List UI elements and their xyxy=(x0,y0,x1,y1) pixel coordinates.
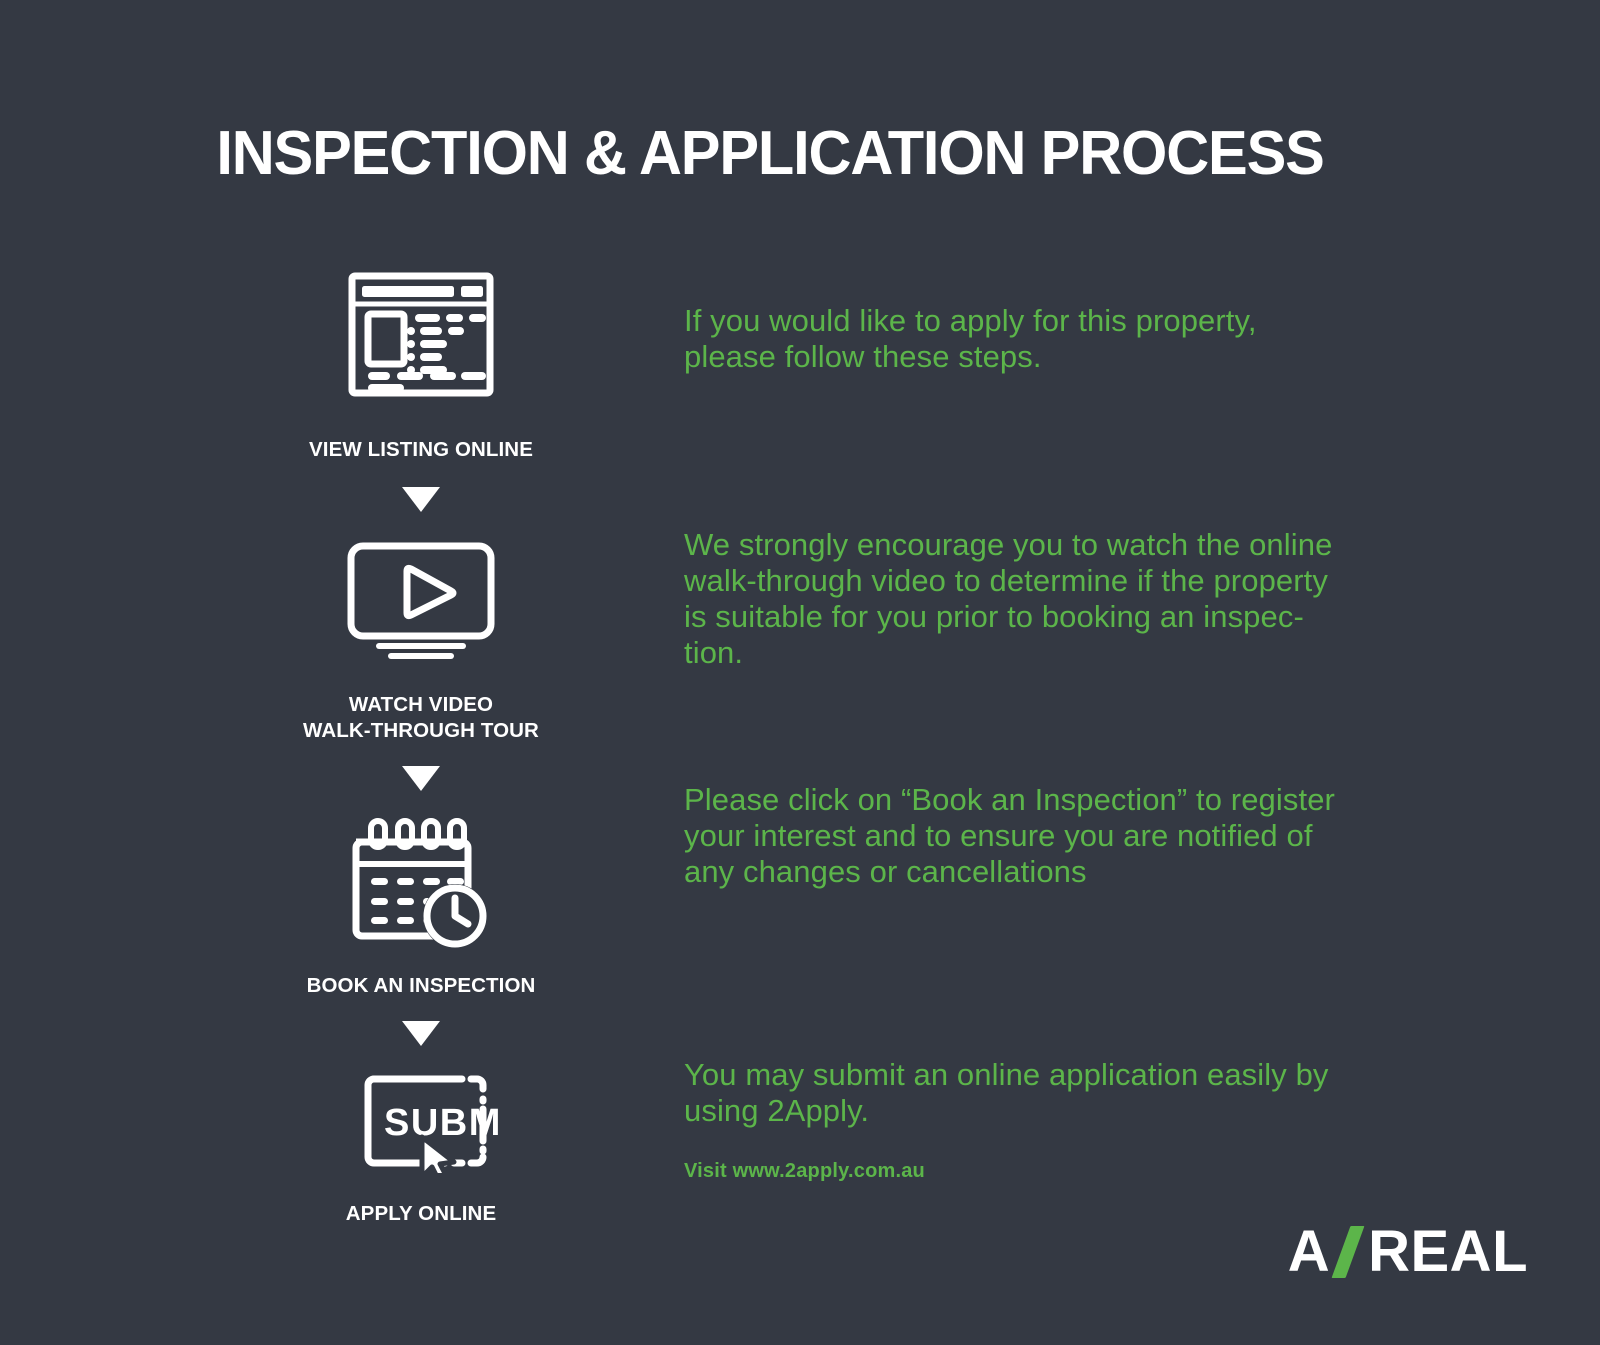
step-label: APPLY ONLINE xyxy=(255,1201,587,1227)
copy-line: We strongly encourage you to watch the o… xyxy=(684,527,1414,563)
copy-line: your interest and to ensure you are noti… xyxy=(684,818,1414,854)
visit-2apply-link[interactable]: Visit www.2apply.com.au xyxy=(684,1160,925,1183)
copy-block-2: We strongly encourage you to watch the o… xyxy=(684,527,1414,671)
copy-line: You may submit an online application eas… xyxy=(684,1057,1414,1093)
infographic-page: INSPECTION & APPLICATION PROCESS xyxy=(0,0,1600,1345)
logo-word-real: REAL xyxy=(1368,1218,1528,1285)
browser-listing-icon xyxy=(255,262,587,397)
copy-line: tion. xyxy=(684,635,1414,671)
step-apply-online: SUBMIT APPLY ONLINE xyxy=(255,1068,587,1227)
step-label-line: WATCH VIDEO xyxy=(255,692,587,718)
step-label: WATCH VIDEO WALK-THROUGH TOUR xyxy=(255,692,587,744)
step-watch-video: WATCH VIDEO WALK-THROUGH TOUR xyxy=(255,538,587,791)
copy-line: please follow these steps. xyxy=(684,339,1414,375)
down-arrow-icon xyxy=(255,487,587,512)
copy-block-1: If you would like to apply for this prop… xyxy=(684,303,1414,375)
copy-line: using 2Apply. xyxy=(684,1093,1414,1129)
calendar-clock-icon xyxy=(255,811,587,951)
step-label: VIEW LISTING ONLINE xyxy=(255,437,587,463)
process-steps-column: VIEW LISTING ONLINE WATCH VIDEO WALK-THR… xyxy=(255,262,587,1227)
step-label-line: WALK-THROUGH TOUR xyxy=(255,718,587,744)
copy-line: Please click on “Book an Inspection” to … xyxy=(684,782,1414,818)
logo-slash-icon xyxy=(1332,1226,1365,1278)
video-play-monitor-icon xyxy=(255,538,587,660)
areal-logo: A REAL xyxy=(1288,1218,1528,1285)
copy-line: any changes or cancellations xyxy=(684,854,1414,890)
copy-line: is suitable for you prior to booking an … xyxy=(684,599,1414,635)
copy-line: walk-through video to determine if the p… xyxy=(684,563,1414,599)
logo-letter-a: A xyxy=(1288,1218,1330,1285)
copy-block-3: Please click on “Book an Inspection” to … xyxy=(684,782,1414,890)
svg-text:SUBMIT: SUBMIT xyxy=(384,1102,499,1144)
copy-line: If you would like to apply for this prop… xyxy=(684,303,1414,339)
down-arrow-icon xyxy=(255,766,587,791)
down-arrow-icon xyxy=(255,1021,587,1046)
step-label-line: APPLY ONLINE xyxy=(255,1201,587,1227)
submit-button-cursor-icon: SUBMIT xyxy=(255,1068,587,1173)
step-label: BOOK AN INSPECTION xyxy=(255,973,587,999)
step-view-listing-online: VIEW LISTING ONLINE xyxy=(255,262,587,512)
step-label-line: VIEW LISTING ONLINE xyxy=(255,437,587,463)
step-book-an-inspection: BOOK AN INSPECTION xyxy=(255,811,587,1046)
copy-block-4: You may submit an online application eas… xyxy=(684,1057,1414,1129)
page-title: INSPECTION & APPLICATION PROCESS xyxy=(31,118,1509,189)
step-label-line: BOOK AN INSPECTION xyxy=(255,973,587,999)
